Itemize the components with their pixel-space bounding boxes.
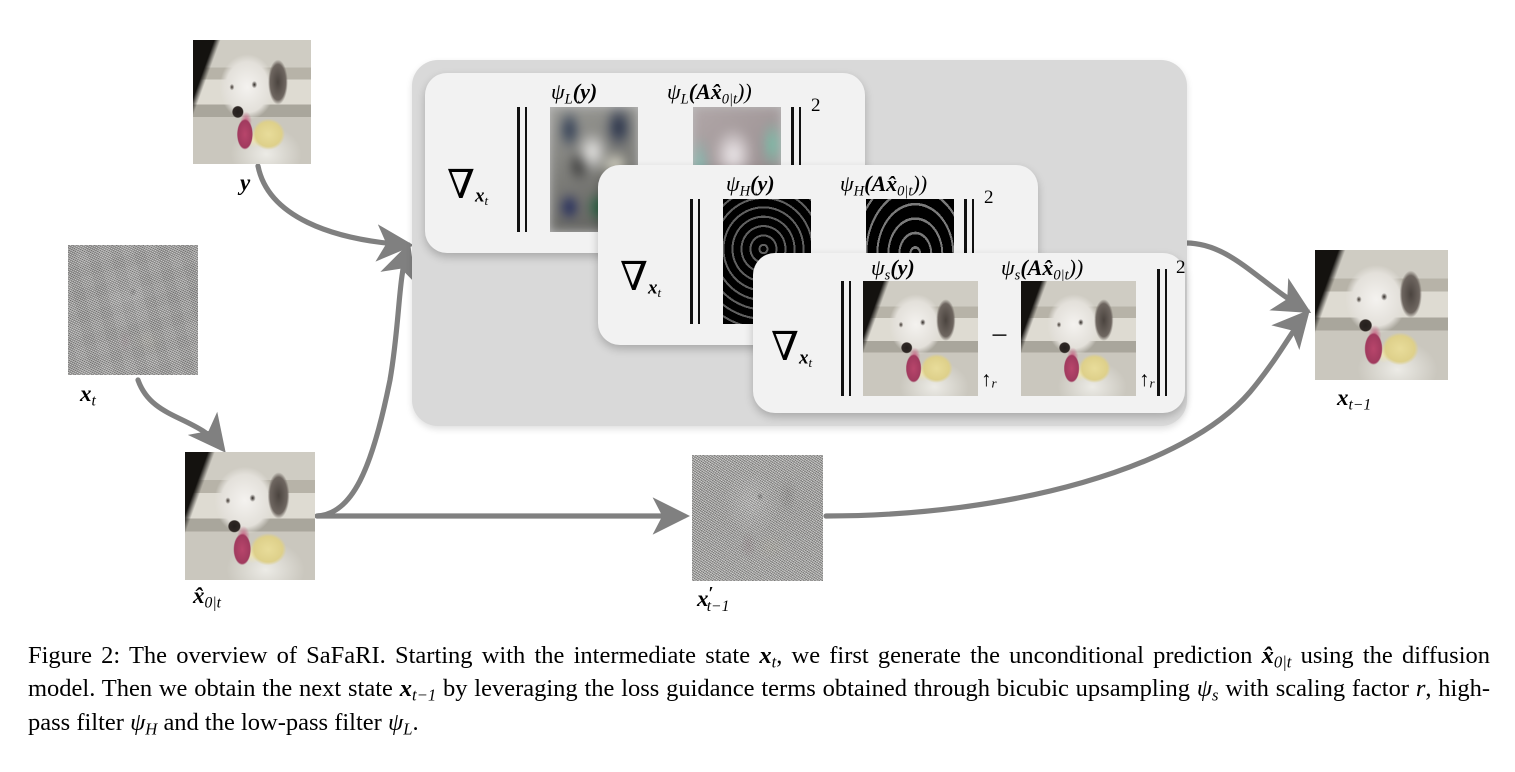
norm-bars-left-low-pass bbox=[517, 107, 527, 232]
arrow-xt-to-prediction bbox=[138, 380, 222, 448]
image-psi-s-y bbox=[863, 281, 978, 396]
term-label-psi-L-y: ψL(y) bbox=[551, 79, 597, 108]
upsample-marker-left: ↑r bbox=[981, 369, 997, 390]
caption-math-xt: xt bbox=[759, 642, 776, 669]
subscript-t-minus-1: t−1 bbox=[707, 598, 730, 615]
image-psi-s-Ax bbox=[1021, 281, 1136, 396]
upsample-marker-right: ↑r bbox=[1139, 369, 1155, 390]
caption-math-psi-s: ψs bbox=[1197, 675, 1219, 702]
gradient-operator-low-pass: ∇xt bbox=[447, 161, 488, 209]
norm-bars-left-upsample bbox=[841, 281, 851, 396]
norm-bars-right-upsample bbox=[1157, 269, 1167, 396]
term-label-psi-L-Ax: ψL(Ax̂0|t)) bbox=[667, 79, 752, 108]
image-measurement-y bbox=[193, 40, 311, 164]
label-measurement-y: y bbox=[240, 170, 250, 196]
exponent-upsample: 2 bbox=[1176, 257, 1186, 279]
exponent-high-pass: 2 bbox=[984, 187, 994, 209]
subscript-t: t bbox=[92, 393, 96, 410]
exponent-low-pass: 2 bbox=[811, 95, 821, 117]
caption-math-xt-1: xt−1 bbox=[400, 675, 436, 702]
image-next-state-xt-1 bbox=[1315, 250, 1448, 380]
caption-part-7: and the low-pass filter bbox=[157, 709, 388, 736]
gradient-operator-high-pass: ∇xt bbox=[620, 253, 661, 301]
caption-math-r: r bbox=[1416, 675, 1426, 702]
label-intermediate-next-state: x′t−1 bbox=[697, 583, 729, 616]
term-label-psi-s-y: ψs(y) bbox=[871, 255, 915, 284]
minus-sign-upsample: − bbox=[991, 321, 1008, 351]
image-intermediate-next-state bbox=[692, 455, 823, 581]
caption-part-5: with scaling factor bbox=[1219, 675, 1416, 702]
caption-part-8: . bbox=[412, 709, 418, 736]
label-prediction-x0t: x̂0|t bbox=[193, 583, 221, 613]
caption-part-2: , we first generate the unconditional pr… bbox=[776, 642, 1261, 669]
arrow-y-to-guidance bbox=[258, 166, 408, 245]
caption-math-psi-H: ψH bbox=[130, 709, 157, 736]
label-next-state-xt-1: xt−1 bbox=[1337, 385, 1371, 415]
caption-math-psi-L: ψL bbox=[388, 709, 412, 736]
term-label-psi-s-Ax: ψs(Ax̂0|t)) bbox=[1001, 255, 1083, 284]
caption-part-1: Figure 2: The overview of SaFaRI. Starti… bbox=[28, 642, 759, 669]
subscript-0t: 0|t bbox=[205, 595, 221, 612]
panel-bicubic-upsample-guidance[interactable]: ∇xt ψs(y) ↑r − ψs(Ax̂0|t)) ↑r 2 bbox=[753, 253, 1185, 413]
subscript-t-minus-1: t−1 bbox=[1349, 397, 1372, 414]
norm-bars-left-high-pass bbox=[690, 199, 700, 324]
image-prediction-x0t bbox=[185, 452, 315, 580]
figure-caption: Figure 2: The overview of SaFaRI. Starti… bbox=[28, 640, 1490, 740]
figure-canvas: y xt x̂0|t x′t−1 xt−1 ∇xt ψL(y) bbox=[0, 0, 1515, 772]
arrow-prediction-to-guidance bbox=[317, 248, 408, 516]
gradient-operator-upsample: ∇xt bbox=[771, 323, 812, 371]
caption-math-x0t: x̂0|t bbox=[1262, 642, 1292, 669]
label-noisy-state-xt: xt bbox=[80, 381, 96, 411]
arrow-guidance-to-next-state bbox=[1186, 243, 1306, 310]
caption-part-4: by leveraging the loss guidance terms ob… bbox=[436, 675, 1197, 702]
term-label-psi-H-Ax: ψH(Ax̂0|t)) bbox=[840, 171, 927, 200]
term-label-psi-H-y: ψH(y) bbox=[726, 171, 775, 200]
image-noisy-state-xt bbox=[68, 245, 198, 375]
